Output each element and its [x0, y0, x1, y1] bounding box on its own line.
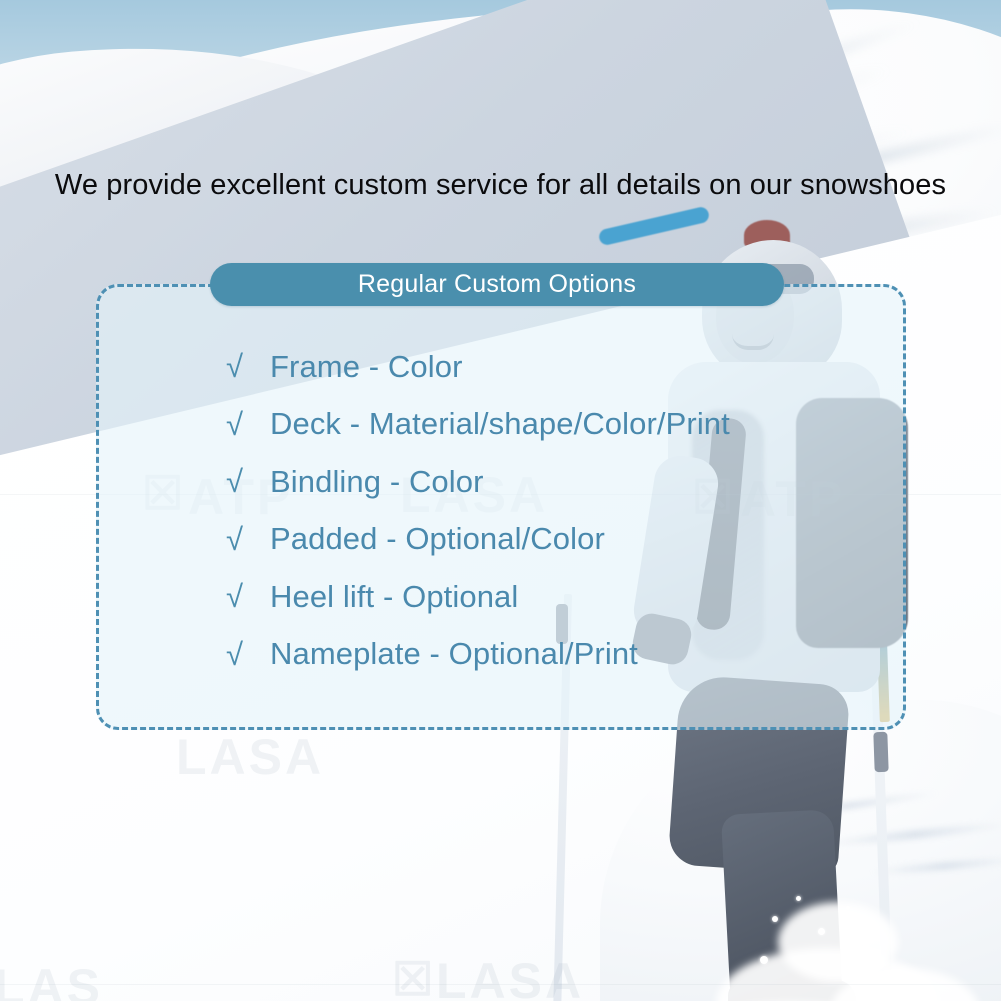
option-row: √Padded - Optional/Color [222, 511, 922, 569]
promo-banner: ATP ☒ LASA ATP ☒ LASA LAS LASA ☒ We prov… [0, 0, 1001, 1001]
option-label: Heel lift - Optional [270, 579, 518, 615]
snow-fleck [760, 956, 768, 964]
custom-options-list: √Frame - Color√Deck - Material/shape/Col… [222, 338, 922, 683]
panel-title-pill: Regular Custom Options [210, 263, 784, 306]
option-row: √Frame - Color [222, 338, 922, 396]
watermark-text: LASA [436, 952, 584, 1001]
option-label: Deck - Material/shape/Color/Print [270, 406, 730, 442]
watermark-x-icon: ☒ [392, 952, 436, 1001]
check-icon: √ [222, 581, 270, 612]
option-label: Nameplate - Optional/Print [270, 636, 638, 672]
check-icon: √ [222, 639, 270, 670]
snow-fleck [846, 906, 850, 910]
snow-fleck [796, 896, 801, 901]
option-row: √Heel lift - Optional [222, 568, 922, 626]
page-title: We provide excellent custom service for … [0, 169, 1001, 202]
panel-title-label: Regular Custom Options [358, 270, 636, 299]
check-icon: √ [222, 409, 270, 440]
ski-pole-right-grip [873, 732, 888, 772]
watermark-text: LAS [0, 958, 103, 1001]
option-row: √Deck - Material/shape/Color/Print [222, 396, 922, 454]
option-label: Padded - Optional/Color [270, 521, 605, 557]
watermark-rule [0, 984, 1001, 985]
check-icon: √ [222, 351, 270, 382]
snow-fleck [772, 916, 778, 922]
watermark-text: LASA [176, 728, 324, 786]
check-icon: √ [222, 524, 270, 555]
snow-fleck [818, 928, 825, 935]
check-icon: √ [222, 466, 270, 497]
snow-fleck [864, 942, 869, 947]
option-row: √Nameplate - Optional/Print [222, 626, 922, 684]
option-row: √Bindling - Color [222, 453, 922, 511]
option-label: Bindling - Color [270, 464, 484, 500]
option-label: Frame - Color [270, 349, 463, 385]
